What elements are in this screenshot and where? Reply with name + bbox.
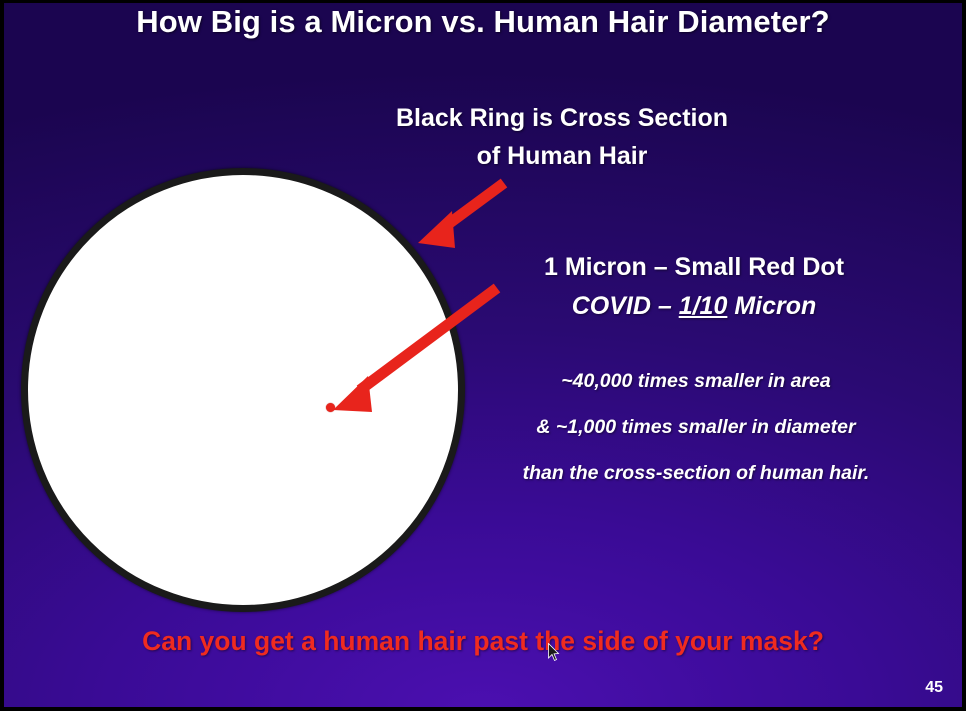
slide-border-left [0,0,4,711]
slide-border-bottom [0,707,966,711]
comparison-text-block: ~40,000 times smaller in area & ~1,000 t… [434,370,958,485]
hair-cross-section-circle [21,168,465,612]
comparison-line-2: & ~1,000 times smaller in diameter [434,416,958,439]
micron-label-line-1: 1 Micron – Small Red Dot [430,248,958,287]
one-micron-red-dot [326,403,335,412]
comparison-line-1: ~40,000 times smaller in area [434,370,958,393]
slide-canvas: How Big is a Micron vs. Human Hair Diame… [0,0,966,711]
hair-cross-section-label: Black Ring is Cross Section of Human Hai… [282,99,842,176]
page-title: How Big is a Micron vs. Human Hair Diame… [0,4,966,40]
covid-suffix: Micron [727,292,816,320]
arrow-up-left-icon [418,183,504,248]
comparison-line-3: than the cross-section of human hair. [434,462,958,485]
slide-border-right [962,0,966,711]
micron-label-line-2: COVID – 1/10 Micron [430,287,958,326]
page-number: 45 [925,679,943,697]
covid-prefix: COVID – [572,292,679,320]
hair-label-line-1: Black Ring is Cross Section [282,99,842,137]
hair-label-line-2: of Human Hair [282,137,842,175]
closing-question: Can you get a human hair past the side o… [0,626,966,657]
slide-border-top [0,0,966,3]
micron-size-label: 1 Micron – Small Red Dot COVID – 1/10 Mi… [430,248,958,326]
covid-fraction: 1/10 [679,292,728,320]
